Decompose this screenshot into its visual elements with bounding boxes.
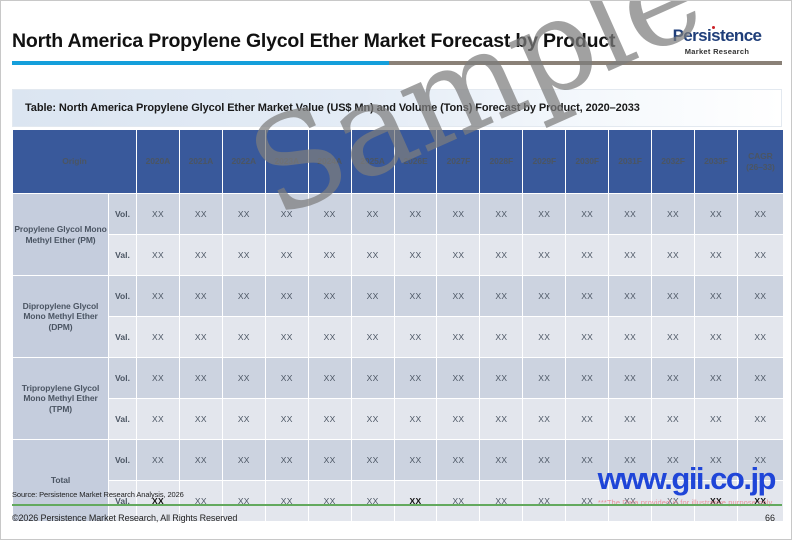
logo-wordmark-text: Persistence [673,26,762,45]
data-cell: XX [523,440,565,480]
data-cell: XX [523,235,565,275]
data-cell: XX [609,358,651,398]
column-header-2020a: 2020A [137,130,179,193]
data-cell: XX [395,481,437,521]
logo-wordmark: Persistence [673,27,762,44]
data-cell: XX [395,235,437,275]
data-cell: XX [738,358,783,398]
data-cell: XX [652,235,694,275]
data-cell: XX [523,481,565,521]
data-cell: XX [395,440,437,480]
data-cell: XX [352,235,394,275]
data-cell: XX [395,194,437,234]
data-cell: XX [652,317,694,357]
data-cell: XX [480,399,522,439]
data-cell: XX [309,399,351,439]
column-header-2029f: 2029F [523,130,565,193]
data-cell: XX [695,194,737,234]
data-cell: XX [695,317,737,357]
data-cell: XX [309,440,351,480]
data-cell: XX [266,440,308,480]
data-cell: XX [437,399,479,439]
data-cell: XX [223,235,265,275]
data-cell: XX [223,194,265,234]
row-label-3: Tripropylene Glycol Mono Methyl Ether (T… [13,358,108,439]
data-cell: XX [180,317,222,357]
data-cell: XX [437,440,479,480]
column-header-2021a: 2021A [180,130,222,193]
table-row: Val.XXXXXXXXXXXXXXXXXXXXXXXXXXXXXX [13,317,783,357]
page-title: North America Propylene Glycol Ether Mar… [12,30,652,53]
column-header-2028f: 2028F [480,130,522,193]
slide-canvas: North America Propylene Glycol Ether Mar… [0,0,792,540]
data-cell: XX [266,235,308,275]
table-caption-band: Table: North America Propylene Glycol Et… [12,89,782,127]
copyright-note: ©2026 Persistence Market Research, All R… [12,513,237,523]
data-cell: XX [695,276,737,316]
data-cell: XX [223,440,265,480]
title-divider [12,61,782,65]
data-cell: XX [652,194,694,234]
measure-label-volume: Vol. [109,276,136,316]
measure-label-value: Val. [109,235,136,275]
row-label-4: Total [13,440,108,521]
data-cell: XX [266,481,308,521]
data-cell: XX [180,358,222,398]
data-cell: XX [352,194,394,234]
data-cell: XX [137,194,179,234]
data-cell: XX [523,317,565,357]
data-cell: XX [609,235,651,275]
measure-label-volume: Vol. [109,358,136,398]
data-cell: XX [266,358,308,398]
column-header-2024a: 2024A [309,130,351,193]
data-cell: XX [223,276,265,316]
data-cell: XX [437,358,479,398]
data-cell: XX [309,317,351,357]
data-cell: XX [480,194,522,234]
data-cell: XX [566,399,608,439]
data-cell: XX [223,358,265,398]
data-cell: XX [480,440,522,480]
data-cell: XX [480,481,522,521]
logo-tagline: Market Research [657,47,777,56]
column-header-2033f: 2033F [695,130,737,193]
data-cell: XX [137,399,179,439]
data-cell: XX [480,235,522,275]
data-cell: XX [395,317,437,357]
data-cell: XX [609,194,651,234]
data-cell: XX [309,194,351,234]
data-cell: XX [437,235,479,275]
measure-label-value: Val. [109,399,136,439]
data-cell: XX [180,440,222,480]
data-cell: XX [223,317,265,357]
measure-label-value: Val. [109,317,136,357]
data-cell: XX [738,276,783,316]
data-cell: XX [395,358,437,398]
column-header-2025a: 2025A [352,130,394,193]
data-cell: XX [609,317,651,357]
data-cell: XX [652,358,694,398]
data-cell: XX [352,481,394,521]
data-cell: XX [137,317,179,357]
data-cell: XX [609,276,651,316]
data-cell: XX [223,399,265,439]
data-cell: XX [523,358,565,398]
data-cell: XX [352,440,394,480]
row-label-2: Dipropylene Glycol Mono Methyl Ether (DP… [13,276,108,357]
data-cell: XX [566,194,608,234]
data-cell: XX [309,481,351,521]
data-cell: XX [395,276,437,316]
data-cell: XX [566,235,608,275]
column-header-cagr: CAGR(26–33) [738,130,783,193]
logo-dot-icon [712,26,715,29]
data-cell: XX [652,399,694,439]
data-cell: XX [738,399,783,439]
column-header-2022a: 2022A [223,130,265,193]
column-header-origin: Origin [13,130,136,193]
table-head: Origin2020A2021A2022A2023A2024A2025A2026… [13,130,783,193]
source-note: Source: Persistence Market Research Anal… [12,490,184,499]
data-cell: XX [738,317,783,357]
data-cell: XX [523,194,565,234]
footer-divider [12,504,782,506]
data-cell: XX [137,276,179,316]
data-cell: XX [523,399,565,439]
data-cell: XX [609,399,651,439]
data-cell: XX [180,235,222,275]
data-cell: XX [437,276,479,316]
column-header-2026e: 2026E [395,130,437,193]
data-cell: XX [180,194,222,234]
data-cell: XX [566,358,608,398]
data-cell: XX [309,235,351,275]
table-row: Dipropylene Glycol Mono Methyl Ether (DP… [13,276,783,316]
data-cell: XX [180,399,222,439]
table-row: Tripropylene Glycol Mono Methyl Ether (T… [13,358,783,398]
data-cell: XX [395,399,437,439]
measure-label-volume: Vol. [109,440,136,480]
column-header-2031f: 2031F [609,130,651,193]
data-cell: XX [566,276,608,316]
table-header-row: Origin2020A2021A2022A2023A2024A2025A2026… [13,130,783,193]
data-cell: XX [137,235,179,275]
data-cell: XX [695,399,737,439]
page-number: 66 [765,513,775,523]
table-row: Propylene Glycol Mono Methyl Ether (PM)V… [13,194,783,234]
data-cell: XX [352,276,394,316]
data-cell: XX [480,317,522,357]
table-row: Val.XXXXXXXXXXXXXXXXXXXXXXXXXXXXXX [13,399,783,439]
data-cell: XX [437,317,479,357]
data-cell: XX [266,317,308,357]
data-cell: XX [266,194,308,234]
persistence-logo: Persistence Market Research [657,27,777,56]
data-cell: XX [738,235,783,275]
column-header-2032f: 2032F [652,130,694,193]
table-caption: Table: North America Propylene Glycol Et… [25,102,640,114]
data-cell: XX [266,399,308,439]
data-cell: XX [352,358,394,398]
data-cell: XX [566,317,608,357]
data-cell: XX [437,194,479,234]
title-divider-accent [12,61,389,65]
data-cell: XX [480,276,522,316]
data-cell: XX [180,276,222,316]
table-row: Val.XXXXXXXXXXXXXXXXXXXXXXXXXXXXXX [13,235,783,275]
data-cell: XX [352,399,394,439]
measure-label-volume: Vol. [109,194,136,234]
row-label-1: Propylene Glycol Mono Methyl Ether (PM) [13,194,108,275]
data-cell: XX [137,440,179,480]
data-cell: XX [309,276,351,316]
website-url[interactable]: www.gii.co.jp [598,461,775,497]
data-cell: XX [137,358,179,398]
data-cell: XX [266,276,308,316]
data-cell: XX [695,235,737,275]
data-cell: XX [652,276,694,316]
data-cell: XX [523,276,565,316]
data-cell: XX [695,358,737,398]
column-header-2030f: 2030F [566,130,608,193]
data-cell: XX [309,358,351,398]
column-header-2027f: 2027F [437,130,479,193]
data-cell: XX [437,481,479,521]
data-cell: XX [352,317,394,357]
data-cell: XX [738,194,783,234]
data-cell: XX [480,358,522,398]
column-header-2023a: 2023A [266,130,308,193]
